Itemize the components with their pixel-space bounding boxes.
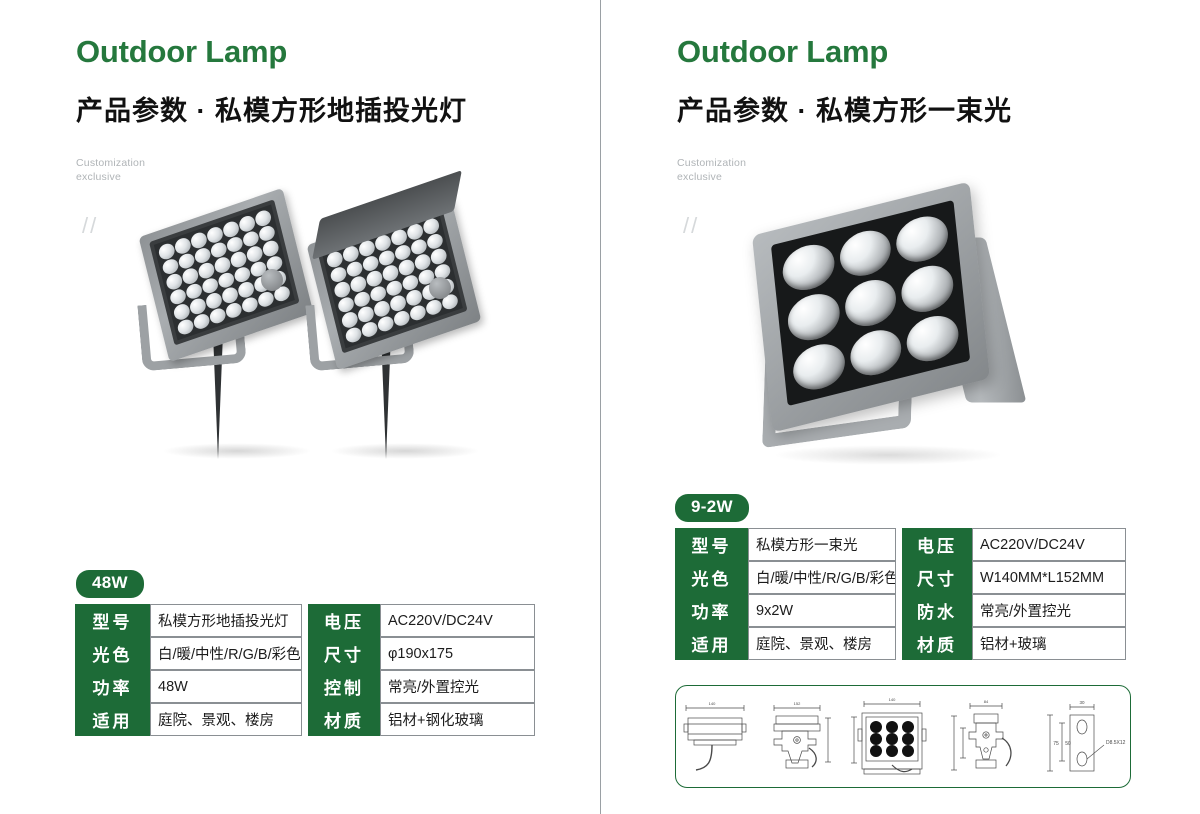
row-value-model: 私模方形地插投光灯 (150, 604, 302, 637)
bracket-detail-drawing: 30 75 50 D8.5X12 (1032, 693, 1128, 781)
row-label-voltage: 电压 (308, 604, 380, 637)
side-view-drawing: 140 (678, 696, 756, 778)
row-label-control: 控制 (308, 670, 380, 703)
dim-bracket-width: 30 (1079, 700, 1085, 705)
kicker-line-2: exclusive (677, 170, 722, 185)
row-value-application: 庭院、景观、楼房 (748, 627, 896, 660)
spec-table-left: 型号 私模方形地插投光灯 电压 AC220V/DC24V 光色 白/暖/中性/R… (75, 604, 535, 736)
product-photo-left (150, 205, 480, 465)
row-value-model: 私模方形一束光 (748, 528, 896, 561)
table-row: 光色 白/暖/中性/R/G/B/彩色 尺寸 W140MM*L152MM (675, 561, 1126, 594)
row-value-power: 9x2W (748, 594, 896, 627)
lens-array-face (771, 200, 970, 406)
row-label-color: 光色 (75, 637, 150, 670)
brand-title: Outdoor Lamp (76, 36, 287, 67)
rear-view-drawing: 152 (760, 696, 838, 778)
row-label-color: 光色 (675, 561, 748, 594)
product-panel-left: Outdoor Lamp 产品参数 · 私模方形地插投光灯 Customizat… (0, 0, 600, 814)
table-row: 型号 私模方形一束光 电压 AC220V/DC24V (675, 528, 1126, 561)
row-value-application: 庭院、景观、楼房 (150, 703, 302, 736)
row-value-size: φ190x175 (380, 637, 535, 670)
row-label-power: 功率 (675, 594, 748, 627)
table-row: 型号 私模方形地插投光灯 电压 AC220V/DC24V (75, 604, 535, 637)
row-label-size: 尺寸 (902, 561, 972, 594)
product-panel-right: Outdoor Lamp 产品参数 · 私模方形一束光 Customizatio… (601, 0, 1200, 814)
slash-decoration: // (683, 215, 699, 237)
profile-view-drawing: 84 (944, 694, 1028, 780)
row-label-waterproof: 防水 (902, 594, 972, 627)
row-value-color: 白/暖/中性/R/G/B/彩色 (150, 637, 302, 670)
row-value-voltage: AC220V/DC24V (380, 604, 535, 637)
svg-text:140: 140 (889, 697, 896, 702)
spec-table-right: 型号 私模方形一束光 电压 AC220V/DC24V 光色 白/暖/中性/R/G… (675, 528, 1126, 660)
row-value-control: 常亮/外置控光 (380, 670, 535, 703)
svg-text:140: 140 (709, 701, 716, 706)
kicker-line-2: exclusive (76, 170, 121, 185)
row-value-color: 白/暖/中性/R/G/B/彩色 (748, 561, 896, 594)
wattage-badge: 48W (76, 570, 144, 598)
table-row: 适用 庭院、景观、楼房 材质 铝材+钢化玻璃 (75, 703, 535, 736)
page-title: 产品参数 · 私模方形地插投光灯 (76, 95, 467, 127)
slash-decoration: // (82, 215, 98, 237)
kicker-line-1: Customization (677, 156, 746, 171)
row-value-material: 铝材+钢化玻璃 (380, 703, 535, 736)
table-row: 功率 9x2W 防水 常亮/外置控光 (675, 594, 1126, 627)
row-label-model: 型号 (75, 604, 150, 637)
row-label-voltage: 电压 (902, 528, 972, 561)
row-value-power: 48W (150, 670, 302, 703)
kicker-line-1: Customization (76, 156, 145, 171)
front-view-9-lens-drawing: 140 (842, 693, 940, 781)
technical-drawing-panel: 140 152 (675, 685, 1131, 788)
row-value-material: 铝材+玻璃 (972, 627, 1126, 660)
catalog-page: Outdoor Lamp 产品参数 · 私模方形地插投光灯 Customizat… (0, 0, 1200, 814)
svg-text:152: 152 (794, 701, 801, 706)
dim-hole-span: 50 (1065, 741, 1071, 747)
table-row: 光色 白/暖/中性/R/G/B/彩色 尺寸 φ190x175 (75, 637, 535, 670)
wattage-badge: 9-2W (675, 494, 749, 522)
row-label-application: 适用 (675, 627, 748, 660)
dim-hole-spec: D8.5X12 (1106, 740, 1126, 746)
table-row: 适用 庭院、景观、楼房 材质 铝材+玻璃 (675, 627, 1126, 660)
row-label-size: 尺寸 (308, 637, 380, 670)
row-label-material: 材质 (308, 703, 380, 736)
page-title: 产品参数 · 私模方形一束光 (677, 95, 1012, 127)
svg-text:84: 84 (984, 699, 989, 704)
row-value-waterproof: 常亮/外置控光 (972, 594, 1126, 627)
brand-title: Outdoor Lamp (677, 36, 888, 67)
row-label-model: 型号 (675, 528, 748, 561)
row-label-power: 功率 (75, 670, 150, 703)
row-label-application: 适用 (75, 703, 150, 736)
row-label-material: 材质 (902, 627, 972, 660)
row-value-size: W140MM*L152MM (972, 561, 1126, 594)
table-row: 功率 48W 控制 常亮/外置控光 (75, 670, 535, 703)
product-photo-right (751, 195, 1091, 470)
dim-bracket-height: 75 (1053, 741, 1059, 747)
row-value-voltage: AC220V/DC24V (972, 528, 1126, 561)
